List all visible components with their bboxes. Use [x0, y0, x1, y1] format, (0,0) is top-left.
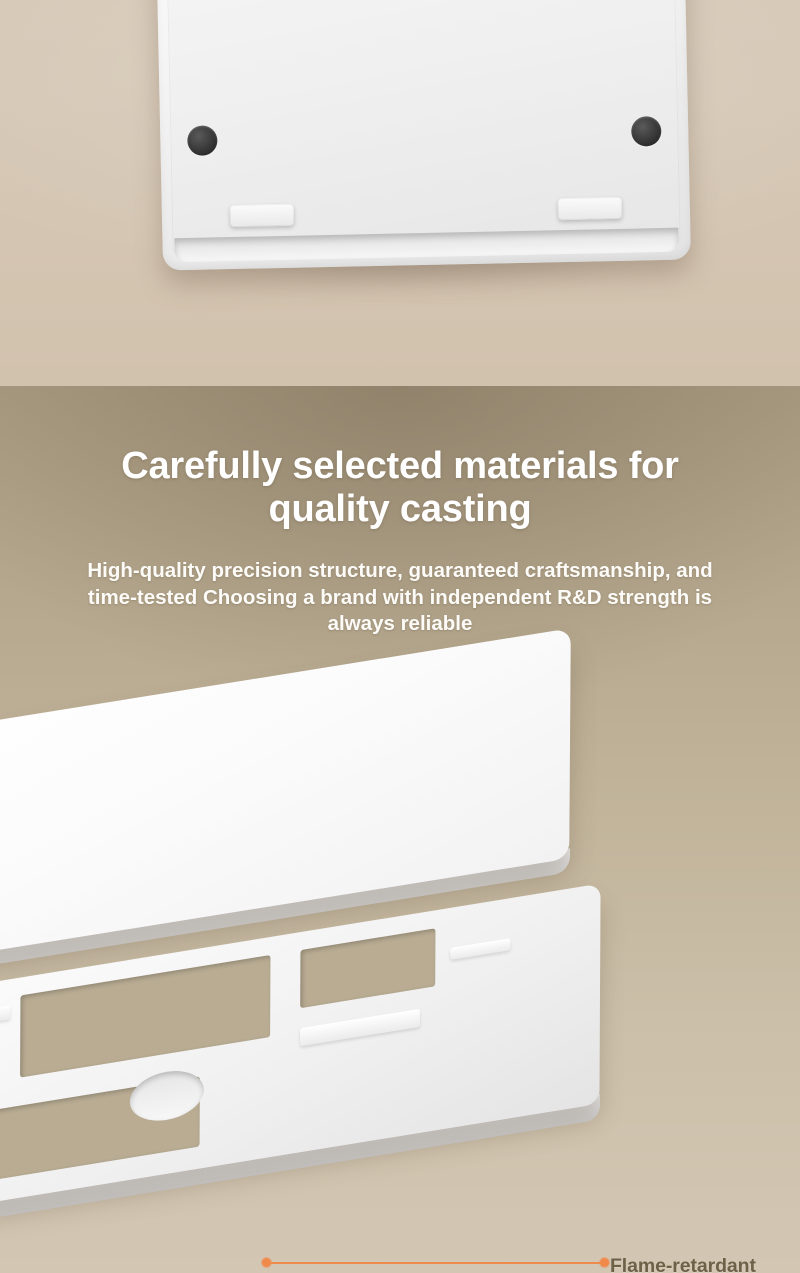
frame-rib: [450, 938, 510, 960]
frame-rib: [300, 1009, 420, 1046]
callout-leader-panel: [268, 1262, 604, 1264]
frame-cutout-main: [20, 955, 270, 1078]
callout-endpoint-panel: [600, 1258, 609, 1267]
frame-rib: [0, 1005, 10, 1038]
frame-cutout-secondary: [300, 928, 435, 1008]
latch-left: [230, 204, 294, 227]
latch-right: [558, 197, 622, 220]
hero-product-photo: GB/T 2099.1 10A 250V~: [0, 0, 800, 386]
callout-label-panel: Flame-retardant PC panel: [610, 1255, 756, 1273]
exploded-view-diagram: Flame-retardant PC panel Flame-retardant…: [0, 386, 800, 1273]
product-detail-page: GB/T 2099.1 10A 250V~ Carefully selected…: [0, 0, 800, 1273]
feature-materials-section: Carefully selected materials for quality…: [0, 386, 800, 1273]
wall-plate-back: GB/T 2099.1 10A 250V~: [153, 0, 691, 270]
